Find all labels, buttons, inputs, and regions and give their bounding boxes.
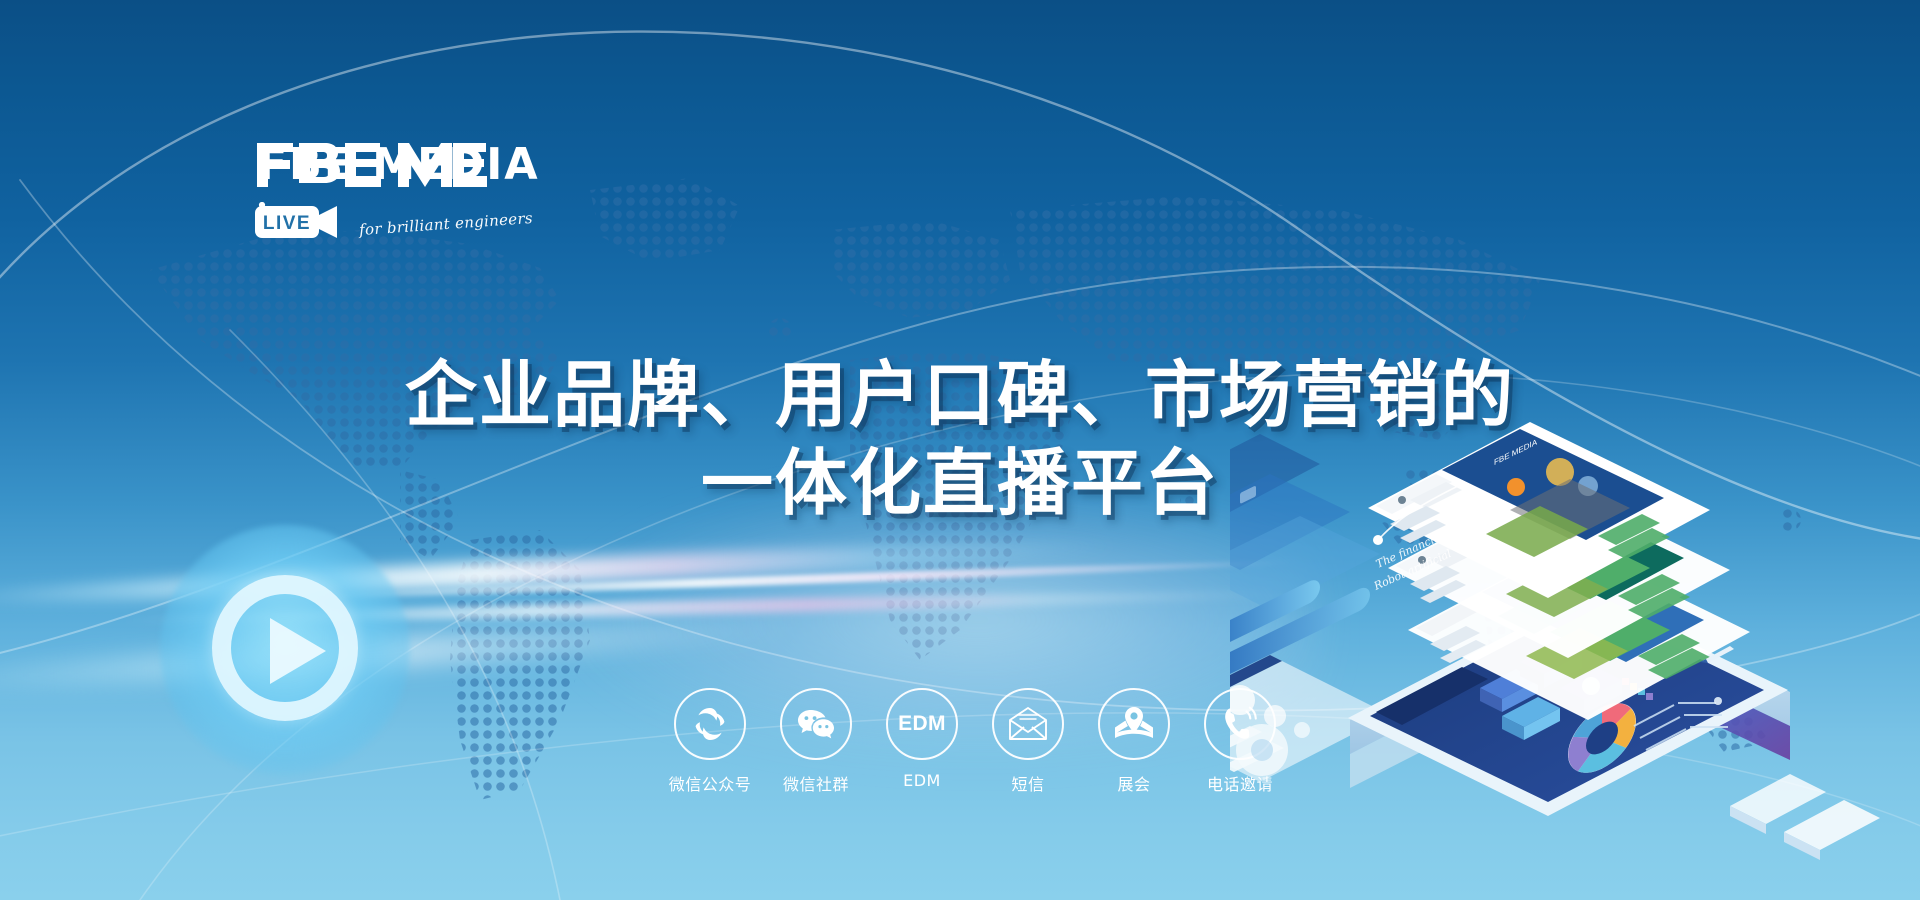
isometric-device-illustration: FBE MEDIA The financial: [1230, 420, 1920, 890]
channel-label: 展会: [1117, 771, 1150, 795]
exhibition-map-pin-icon: [1098, 688, 1170, 760]
wechat-group-icon: [780, 688, 852, 760]
channel-label: EDM: [903, 771, 941, 790]
channel-item-exhibition[interactable]: 展会: [1096, 688, 1172, 795]
logo-live-row: LIVE for brilliant engineers: [255, 202, 515, 245]
play-video-button[interactable]: [160, 525, 410, 775]
channel-label: 微信社群: [783, 771, 849, 795]
channel-item-wechat-group[interactable]: 微信社群: [778, 688, 854, 795]
channel-label: 微信公众号: [669, 771, 752, 795]
edm-icon: EDM: [886, 688, 958, 760]
channel-item-sms[interactable]: 短信: [990, 688, 1066, 795]
headline-line-1: 企业品牌、用户口碑、市场营销的: [0, 352, 1920, 440]
logo-tagline: for brilliant engineers: [359, 208, 534, 238]
edm-icon-text: EDM: [898, 712, 946, 736]
channel-item-wechat-official[interactable]: 微信公众号: [672, 688, 748, 795]
device-caption-line1: The financial: [1374, 529, 1446, 570]
channel-item-edm[interactable]: EDM EDM: [884, 688, 960, 790]
headline-block: 企业品牌、用户口碑、市场营销的 一体化直播平台: [0, 352, 1920, 528]
channel-icon-row: 微信公众号 微信社群 EDM: [672, 688, 1278, 795]
svg-text:LIVE: LIVE: [263, 213, 311, 234]
wechat-official-account-icon: [674, 688, 746, 760]
device-brand-label: FBE MEDIA: [1494, 437, 1537, 468]
channel-item-phone-invite[interactable]: 电话邀请: [1202, 688, 1278, 795]
logo-text: FBE MEDIA: [258, 140, 513, 190]
banner-stage: FBE MEDIA LIVE for brilliant engineers 企…: [0, 0, 1920, 900]
sms-envelope-icon: [992, 688, 1064, 760]
phone-call-icon: [1204, 688, 1276, 760]
headline-line-2: 一体化直播平台: [0, 440, 1920, 528]
device-caption-line2: Robot artificial: [1371, 547, 1454, 593]
channel-label: 短信: [1011, 771, 1044, 795]
live-badge: LIVE: [255, 202, 347, 245]
fbe-media-logo[interactable]: FBE MEDIA LIVE for brilliant engineers: [255, 140, 515, 245]
play-triangle-icon: [270, 618, 326, 684]
channel-label: 电话邀请: [1207, 771, 1273, 795]
